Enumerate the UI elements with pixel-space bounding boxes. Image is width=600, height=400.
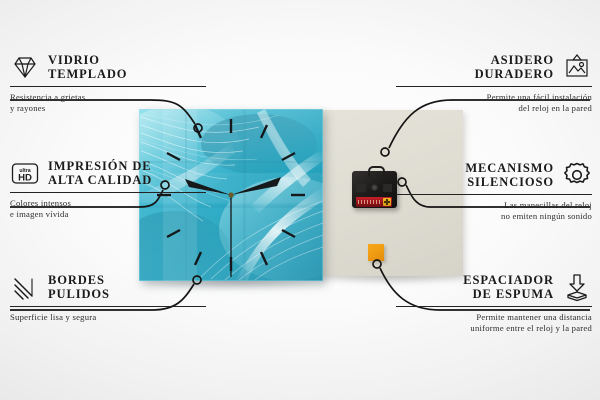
feature-title: BORDES PULIDOS: [48, 273, 110, 302]
feature-title-line1: BORDES: [48, 273, 105, 287]
feature-desc-line1: Permite mantener una distancia: [476, 312, 592, 322]
ultra-hd-icon: ultra HD: [10, 158, 40, 188]
feature-divider: [10, 192, 206, 193]
feature-header: BORDES PULIDOS: [10, 272, 206, 302]
feature-desc-line1: Superficie lisa y segura: [10, 312, 96, 322]
endpoint-ring-espaciador: [373, 260, 381, 268]
feature-title-line1: IMPRESIÓN DE: [48, 159, 152, 173]
feature-title: VIDRIO TEMPLADO: [48, 53, 127, 82]
feature-impresion-alta-calidad: ultra HD IMPRESIÓN DE ALTA CALIDAD Color…: [10, 158, 206, 220]
feature-vidrio-templado: VIDRIO TEMPLADO Resistencia a grietas y …: [10, 52, 206, 114]
gear-icon: [562, 160, 592, 190]
feature-title: ESPACIADOR DE ESPUMA: [463, 273, 554, 302]
feature-bordes-pulidos: BORDES PULIDOS Superficie lisa y segura: [10, 272, 206, 323]
feature-divider: [396, 306, 592, 307]
feature-header: VIDRIO TEMPLADO: [10, 52, 206, 82]
feature-header: ESPACIADOR DE ESPUMA: [396, 272, 592, 302]
infographic-canvas: VIDRIO TEMPLADO Resistencia a grietas y …: [0, 0, 600, 400]
feature-title-line2: DE ESPUMA: [473, 287, 554, 301]
feature-description: Permite una fácil instalación del reloj …: [396, 92, 592, 114]
feature-description: Permite mantener una distancia uniforme …: [396, 312, 592, 334]
feature-title-line1: ESPACIADOR: [463, 273, 554, 287]
feature-asidero-duradero: ASIDERO DURADERO Permite una fácil insta…: [396, 52, 592, 114]
feature-description: Las manecillas del reloj no emiten ningú…: [396, 200, 592, 222]
feature-title-line2: ALTA CALIDAD: [48, 173, 152, 187]
feature-divider: [10, 86, 206, 87]
feature-title-line2: PULIDOS: [48, 287, 110, 301]
feature-description: Resistencia a grietas y rayones: [10, 92, 206, 114]
feature-desc-line2: uniforme entre el reloj y la pared: [470, 323, 592, 333]
feature-title-line2: TEMPLADO: [48, 67, 127, 81]
feature-header: ASIDERO DURADERO: [396, 52, 592, 82]
feature-desc-line2: del reloj en la pared: [519, 103, 593, 113]
feature-title-line2: DURADERO: [475, 67, 554, 81]
feature-header: ultra HD IMPRESIÓN DE ALTA CALIDAD: [10, 158, 206, 188]
feature-divider: [396, 194, 592, 195]
feature-title: MECANISMO SILENCIOSO: [465, 161, 554, 190]
feature-mecanismo-silencioso: MECANISMO SILENCIOSO Las manecillas del …: [396, 160, 592, 222]
feature-desc-line2: e imagen vívida: [10, 209, 69, 219]
diamond-icon: [10, 52, 40, 82]
feature-description: Colores intensos e imagen vívida: [10, 198, 206, 220]
feature-desc-line1: Resistencia a grietas: [10, 92, 85, 102]
feature-title: IMPRESIÓN DE ALTA CALIDAD: [48, 159, 152, 188]
feature-desc-line1: Permite una fácil instalación: [487, 92, 592, 102]
feature-desc-line1: Colores intensos: [10, 198, 71, 208]
feature-divider: [396, 86, 592, 87]
feature-title-line1: ASIDERO: [491, 53, 554, 67]
feature-title: ASIDERO DURADERO: [475, 53, 554, 82]
feature-espaciador-de-espuma: ESPACIADOR DE ESPUMA Permite mantener un…: [396, 272, 592, 334]
polished-edges-icon: [10, 272, 40, 302]
feature-title-line1: MECANISMO: [465, 161, 554, 175]
endpoint-ring-asidero: [381, 148, 389, 156]
foam-spacer-arrow-icon: [562, 272, 592, 302]
endpoint-ring-vidrio: [194, 124, 202, 132]
ultra-hd-icon-main-text: HD: [18, 173, 32, 184]
picture-hanger-icon: [562, 52, 592, 82]
feature-header: MECANISMO SILENCIOSO: [396, 160, 592, 190]
feature-description: Superficie lisa y segura: [10, 312, 206, 323]
feature-divider: [10, 306, 206, 307]
feature-desc-line1: Las manecillas del reloj: [504, 200, 592, 210]
feature-desc-line2: y rayones: [10, 103, 45, 113]
feature-desc-line2: no emiten ningún sonido: [501, 211, 592, 221]
feature-title-line2: SILENCIOSO: [467, 175, 554, 189]
feature-title-line1: VIDRIO: [48, 53, 100, 67]
